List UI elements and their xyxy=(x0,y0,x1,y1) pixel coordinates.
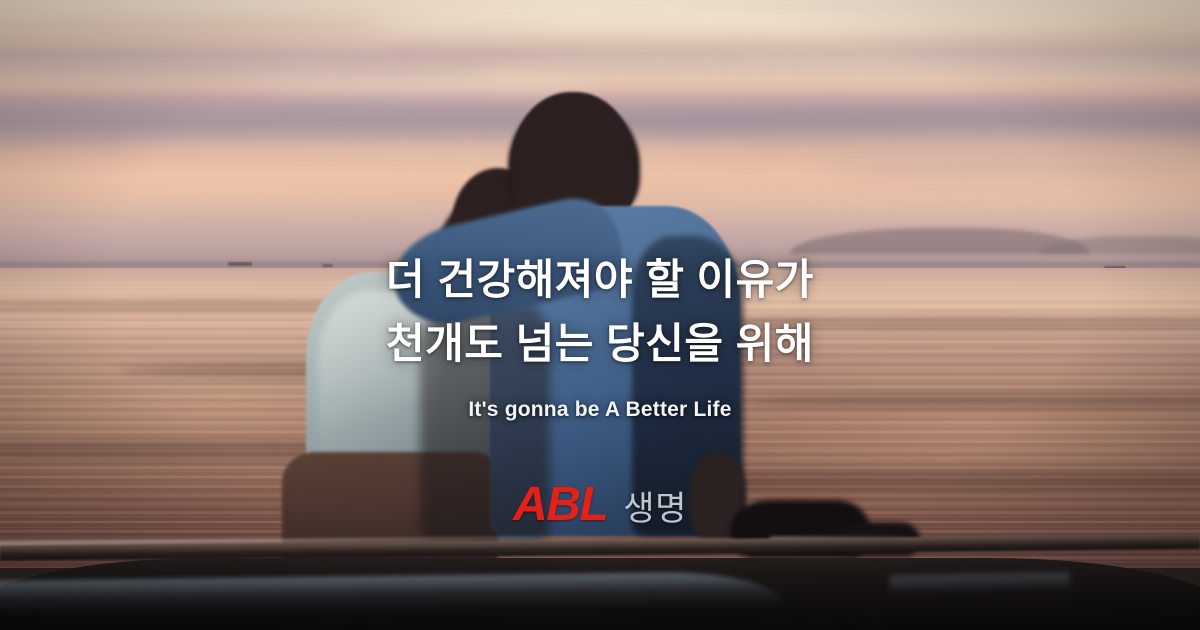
abl-logo[interactable]: ABL 생명 xyxy=(0,481,1200,529)
headline-line-1: 더 건강해져야 할 이유가 xyxy=(0,248,1200,312)
headline-line-2: 천개도 넘는 당신을 위해 xyxy=(0,312,1200,376)
car-window-reflection xyxy=(890,572,1070,593)
marketing-copy: 더 건강해져야 할 이유가 천개도 넘는 당신을 위해 It's gonna b… xyxy=(0,248,1200,422)
advertisement-banner: 더 건강해져야 할 이유가 천개도 넘는 당신을 위해 It's gonna b… xyxy=(0,0,1200,630)
tagline: It's gonna be A Better Life xyxy=(0,398,1200,422)
logo-wordmark: ABL xyxy=(513,481,607,529)
logo-suffix-korean: 생명 xyxy=(623,492,687,526)
